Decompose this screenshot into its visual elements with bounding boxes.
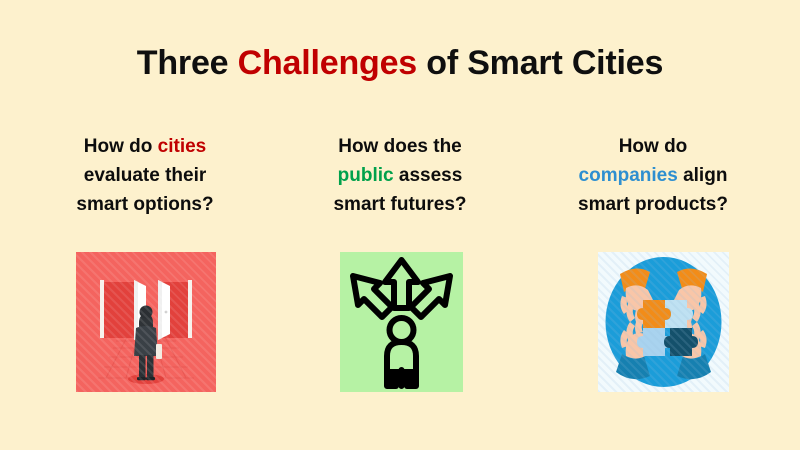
image-person-with-three-arrows	[340, 252, 463, 392]
title-part-one: Three	[137, 44, 238, 82]
cities-line-3: smart options?	[45, 190, 245, 219]
title-part-two: of Smart Cities	[417, 44, 663, 82]
public-line-2: public assess	[300, 161, 500, 190]
companies-line-1: How do	[553, 132, 753, 161]
cities-line-1: How do cities	[45, 132, 245, 161]
slide-canvas: Three Challenges of Smart Cities How do …	[0, 0, 800, 450]
public-line-3: smart futures?	[300, 190, 500, 219]
column-heading-public: How does the public assess smart futures…	[300, 132, 500, 219]
column-heading-companies: How do companies align smart products?	[553, 132, 753, 219]
image-man-facing-two-doors	[76, 252, 216, 392]
image-four-hands-assembling-puzzle	[598, 252, 729, 392]
cities-line1-before: How do	[84, 136, 158, 157]
doors-illustration-svg	[76, 252, 216, 392]
cities-line-2: evaluate their	[45, 161, 245, 190]
column-heading-cities: How do cities evaluate their smart optio…	[45, 132, 245, 219]
public-line2-after: assess	[394, 165, 463, 186]
companies-line-2: companies align	[553, 161, 753, 190]
column-headings: How do cities evaluate their smart optio…	[0, 132, 800, 227]
companies-line-3: smart products?	[553, 190, 753, 219]
companies-line2-after: align	[678, 165, 728, 186]
arrows-illustration-svg	[340, 252, 463, 392]
public-line-1: How does the	[300, 132, 500, 161]
slide-title: Three Challenges of Smart Cities	[0, 44, 800, 83]
public-keyword: public	[338, 165, 394, 186]
cities-keyword: cities	[158, 136, 207, 157]
companies-keyword: companies	[579, 165, 678, 186]
puzzle-illustration-svg	[598, 252, 729, 392]
title-highlight-word: Challenges	[238, 44, 417, 82]
